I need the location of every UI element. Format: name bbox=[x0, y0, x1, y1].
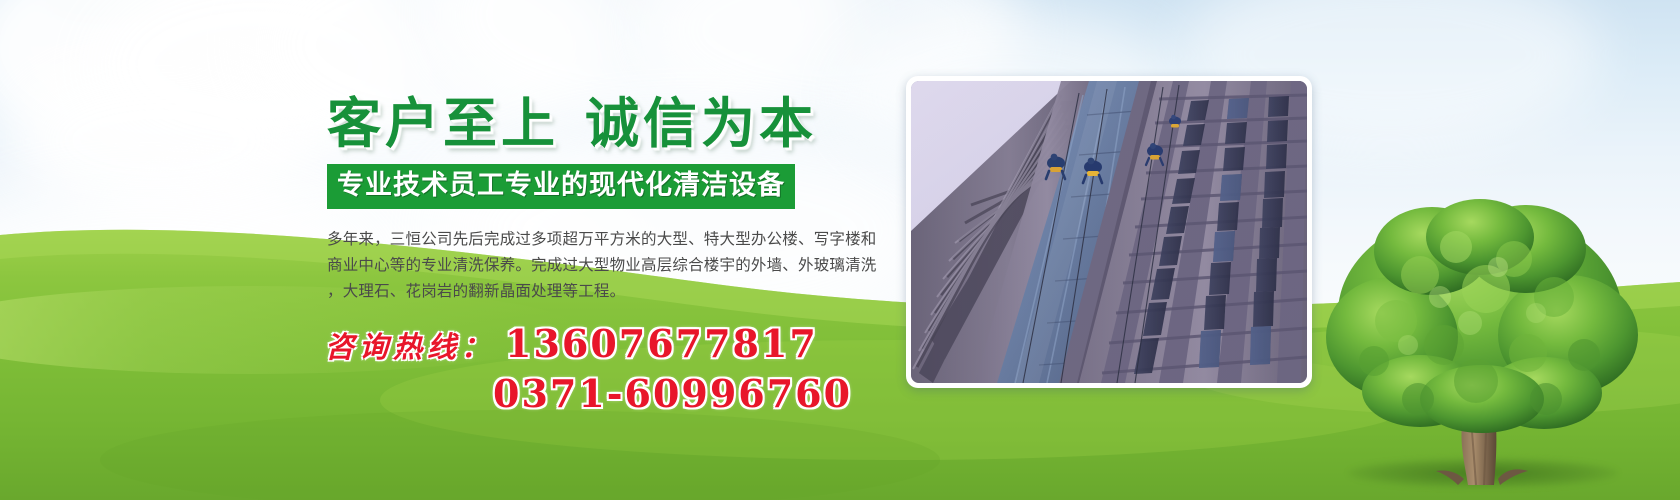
description-text: 多年来，三恒公司先后完成过多项超万平方米的大型、特大型办公楼、写字楼和 商业中心… bbox=[327, 227, 905, 305]
hotline-mobile-number[interactable]: 13607677817 bbox=[505, 321, 818, 366]
building-photo bbox=[911, 81, 1307, 383]
banner-copy: 客户至上诚信为本 专业技术员工专业的现代化清洁设备 多年来，三恒公司先后完成过多… bbox=[325, 96, 905, 413]
page-title: 客户至上诚信为本 bbox=[327, 96, 905, 150]
hotline-landline-number[interactable]: 0371-60996760 bbox=[493, 375, 905, 413]
hotline-block: 咨询热线：13607677817 0371-60996760 bbox=[325, 325, 905, 413]
skyscraper-cleaning-illustration bbox=[911, 81, 1307, 383]
headline-part-1: 客户至上 bbox=[327, 91, 559, 155]
tree-illustration bbox=[1300, 185, 1660, 485]
building-photo-frame[interactable] bbox=[906, 76, 1312, 388]
description-line: ，大理石、花岗岩的翻新晶面处理等工程。 bbox=[327, 279, 905, 305]
promo-banner: 客户至上诚信为本 专业技术员工专业的现代化清洁设备 多年来，三恒公司先后完成过多… bbox=[0, 0, 1680, 500]
hotline-label: 咨询热线： bbox=[325, 330, 495, 364]
description-line: 多年来，三恒公司先后完成过多项超万平方米的大型、特大型办公楼、写字楼和 bbox=[327, 227, 905, 253]
headline-part-2: 诚信为本 bbox=[585, 91, 817, 155]
subtitle-banner: 专业技术员工专业的现代化清洁设备 bbox=[327, 164, 795, 209]
tree-shape bbox=[1300, 185, 1660, 485]
description-line: 商业中心等的专业清洗保养。完成过大型物业高层综合楼宇的外墙、外玻璃清洗 bbox=[327, 253, 905, 279]
